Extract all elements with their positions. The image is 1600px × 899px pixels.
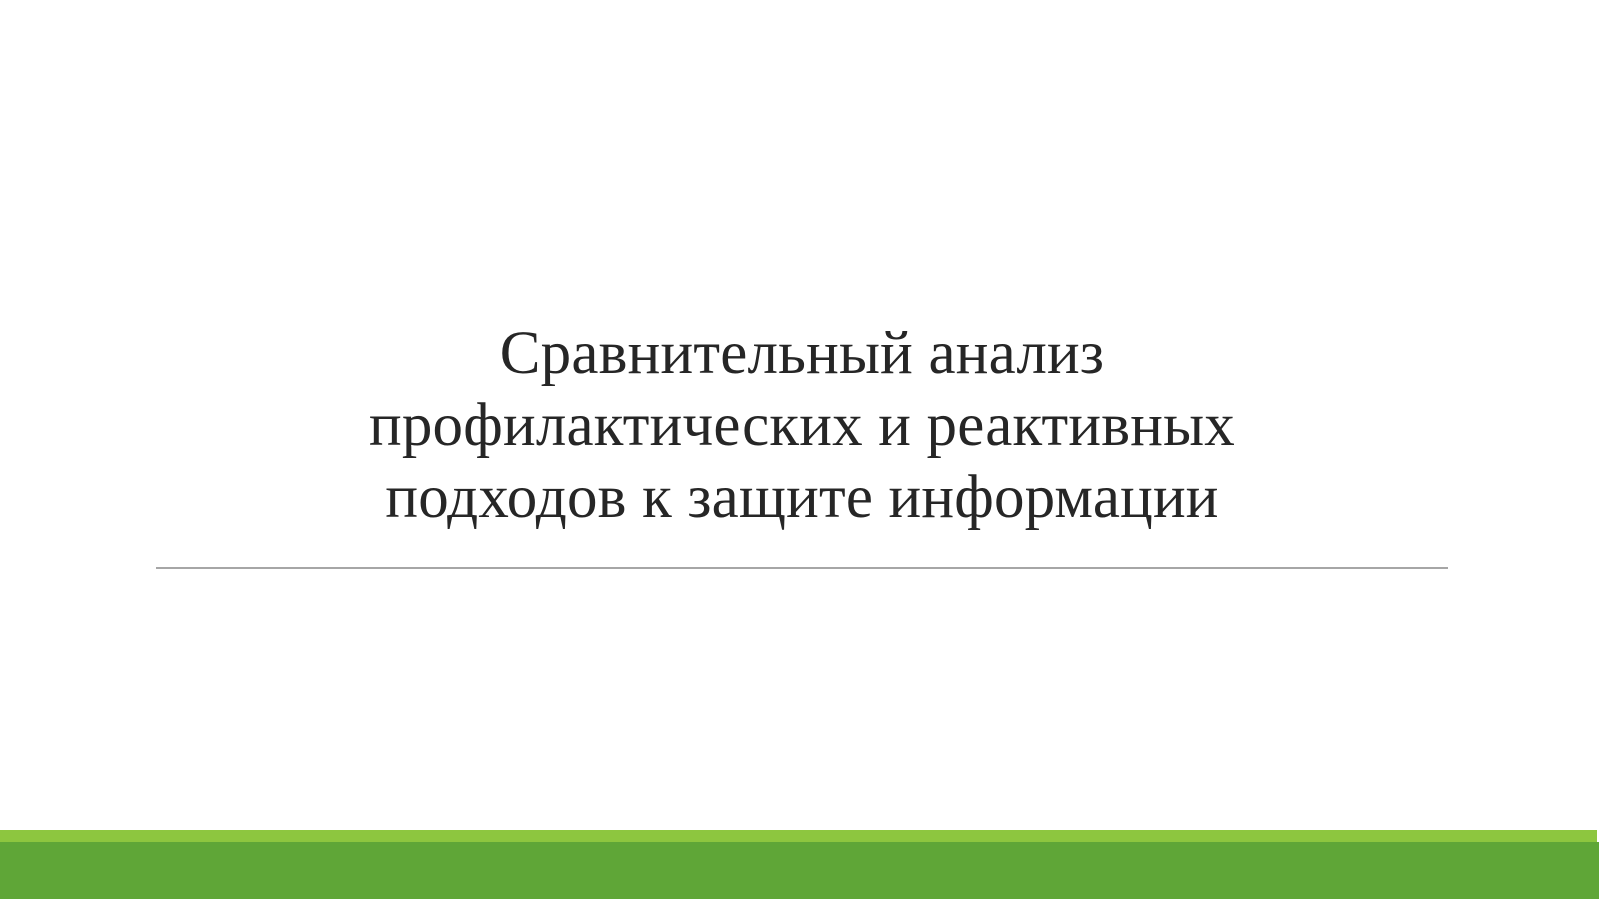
title-divider: [156, 567, 1448, 569]
footer-band-light-green: [0, 830, 1597, 842]
footer-band-dark-green: [0, 842, 1599, 899]
page-title: Сравнительный анализ профилактических и …: [156, 318, 1448, 534]
title-slide: Сравнительный анализ профилактических и …: [0, 0, 1600, 899]
title-block: Сравнительный анализ профилактических и …: [156, 318, 1448, 534]
